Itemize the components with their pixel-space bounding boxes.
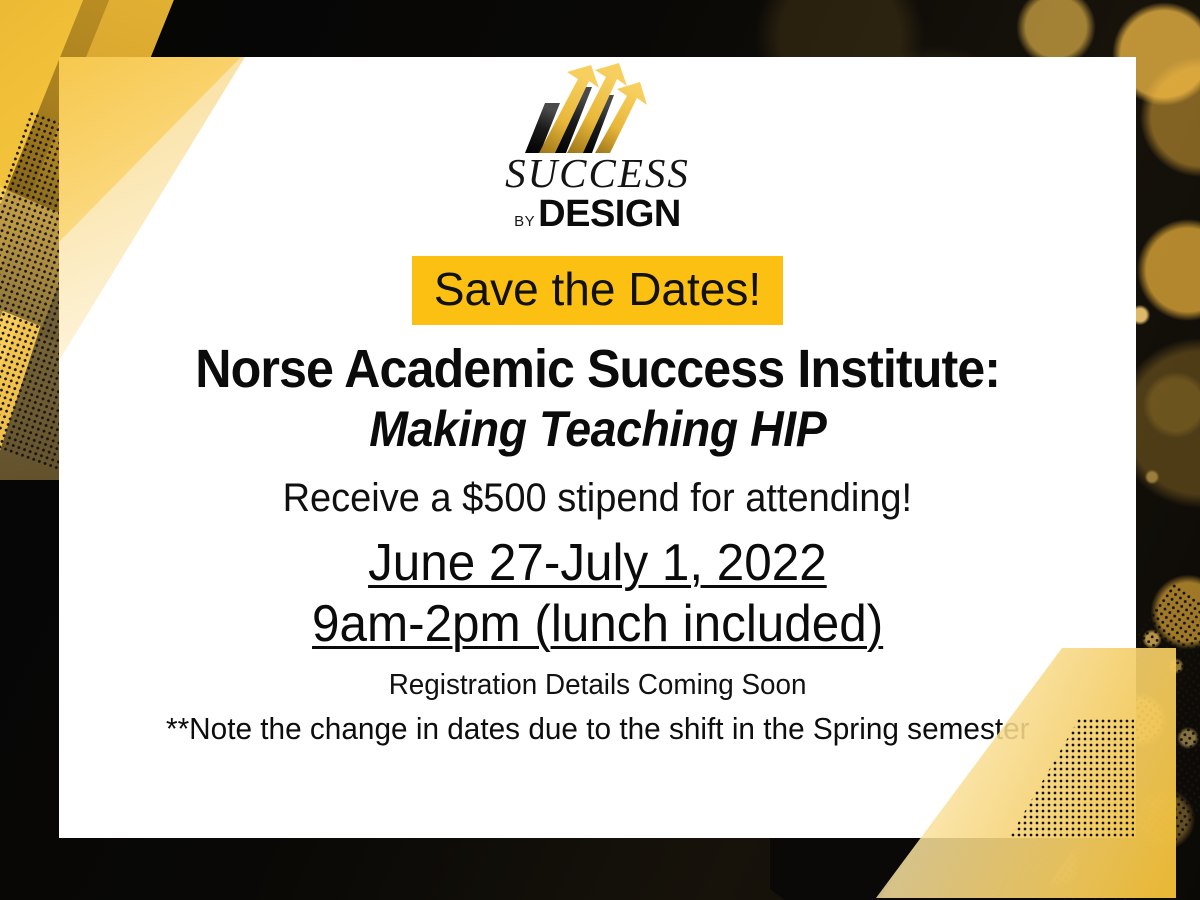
- page-subtitle: Making Teaching HIP: [369, 403, 826, 456]
- poster-root: SUCCESS BY DESIGN Save the Dates! Norse …: [0, 0, 1200, 900]
- logo-word-by: BY: [514, 213, 535, 230]
- date-change-note: **Note the change in dates due to the sh…: [166, 712, 1030, 746]
- white-card: SUCCESS BY DESIGN Save the Dates! Norse …: [59, 57, 1136, 838]
- logo-word-success: SUCCESS: [505, 153, 690, 194]
- card-content: SUCCESS BY DESIGN Save the Dates! Norse …: [59, 57, 1136, 838]
- three-gold-arrows-mark: [513, 63, 683, 155]
- event-date-line: June 27-July 1, 2022: [368, 536, 827, 591]
- registration-notice: Registration Details Coming Soon: [389, 670, 807, 702]
- save-the-dates-banner: Save the Dates!: [412, 256, 783, 325]
- success-by-design-logo: SUCCESS BY DESIGN: [483, 63, 713, 233]
- page-title: Norse Academic Success Institute:: [195, 341, 1000, 397]
- logo-word-design: DESIGN: [538, 195, 681, 233]
- event-time-line: 9am-2pm (lunch included): [312, 597, 883, 652]
- stipend-line: Receive a $500 stipend for attending!: [283, 476, 913, 520]
- logo-row-by-design: BY DESIGN: [514, 195, 681, 233]
